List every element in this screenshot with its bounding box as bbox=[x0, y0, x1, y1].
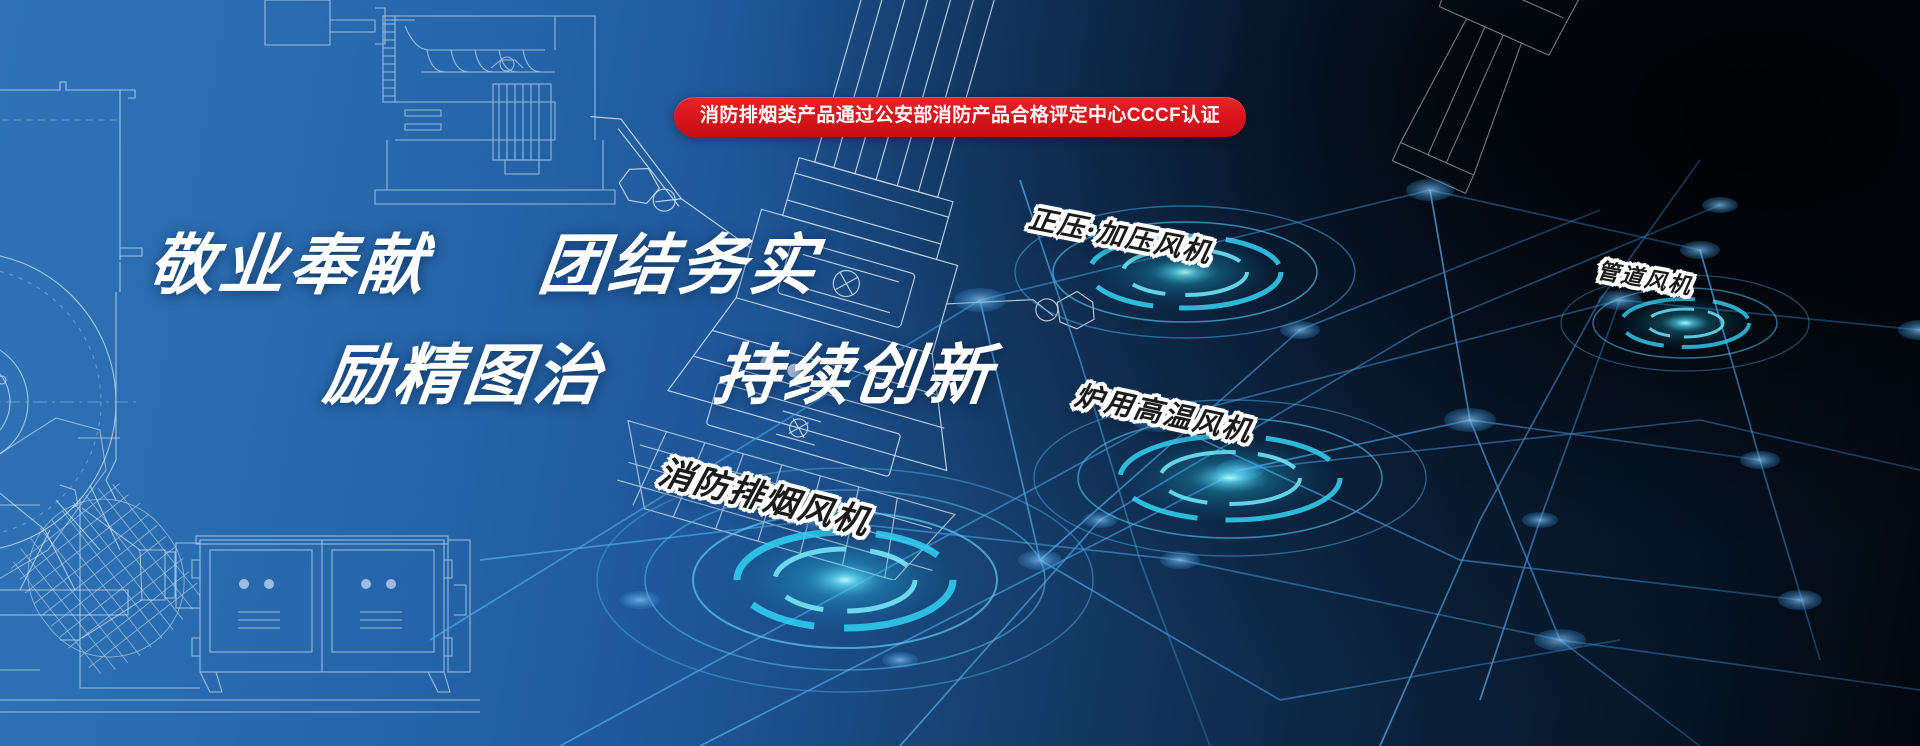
product-hotspot-fire-smoke-exhaust-fan[interactable]: 消防排烟风机 bbox=[595, 430, 1115, 710]
slogan-line-2-part-2: 持续创新 bbox=[710, 336, 1000, 414]
certification-badge-text: 消防排烟类产品通过公安部消防产品合格评定中心CCCF认证 bbox=[700, 105, 1220, 126]
hero-banner: 正压·加压风机 管道风机 炉用高温风机 bbox=[0, 0, 1920, 746]
product-hotspot-duct-fan[interactable]: 管道风机 bbox=[1555, 245, 1855, 385]
certification-badge[interactable]: 消防排烟类产品通过公安部消防产品合格评定中心CCCF认证 bbox=[674, 97, 1246, 137]
slogan-line-2-part-1: 励精图治 bbox=[320, 336, 610, 414]
slogan-block: 敬业奉献 团结务实 励精图治 持续创新 bbox=[150, 212, 995, 418]
slogan-line-2: 励精图治 持续创新 bbox=[319, 322, 1001, 418]
slogan-line-1-part-2: 团结务实 bbox=[535, 226, 825, 304]
slogan-line-1-part-1: 敬业奉献 bbox=[145, 226, 435, 304]
product-hotspot-pressurization-fan[interactable]: 正压·加压风机 bbox=[1000, 180, 1400, 360]
slogan-line-1: 敬业奉献 团结务实 bbox=[144, 212, 1001, 308]
